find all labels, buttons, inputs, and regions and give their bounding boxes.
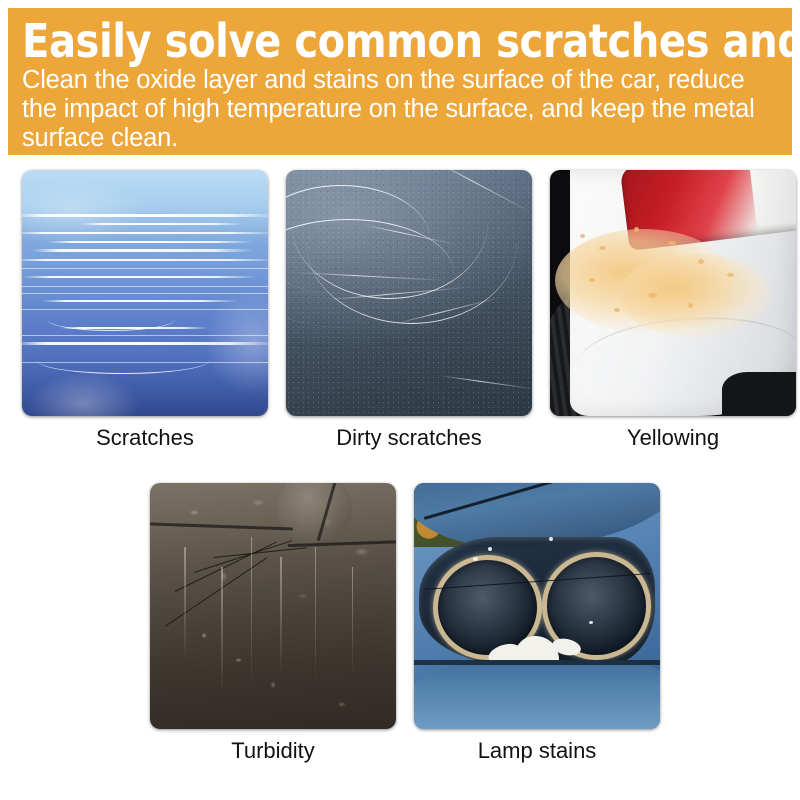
gallery-item-scratches: Scratches — [22, 170, 268, 451]
yellowing-photo — [550, 170, 796, 416]
gallery-item-turbidity: Turbidity — [150, 483, 396, 764]
gallery-item-lamp-stains: Lamp stains — [414, 483, 660, 764]
page-subtitle: Clean the oxide layer and stains on the … — [22, 66, 778, 153]
dirty-scratches-photo — [286, 170, 532, 416]
gallery-item-caption: Yellowing — [627, 425, 719, 451]
gallery-item-caption: Dirty scratches — [336, 425, 481, 451]
gallery-row-bottom: Turbidity — [150, 483, 660, 764]
gallery-item-caption: Turbidity — [231, 738, 315, 764]
header-banner: Easily solve common scratches and stains… — [8, 8, 792, 155]
turbidity-photo — [150, 483, 396, 729]
scratches-photo — [22, 170, 268, 416]
gallery-item-caption: Lamp stains — [478, 738, 597, 764]
gallery-item-caption: Scratches — [96, 425, 194, 451]
product-infographic: Easily solve common scratches and stains… — [0, 0, 800, 800]
gallery-item-yellowing: Yellowing — [550, 170, 796, 451]
lamp-stains-photo — [414, 483, 660, 729]
gallery-row-top: Scratches Dirty scratches — [22, 170, 796, 451]
page-title: Easily solve common scratches and stains — [22, 18, 755, 64]
gallery-item-dirty-scratches: Dirty scratches — [286, 170, 532, 451]
